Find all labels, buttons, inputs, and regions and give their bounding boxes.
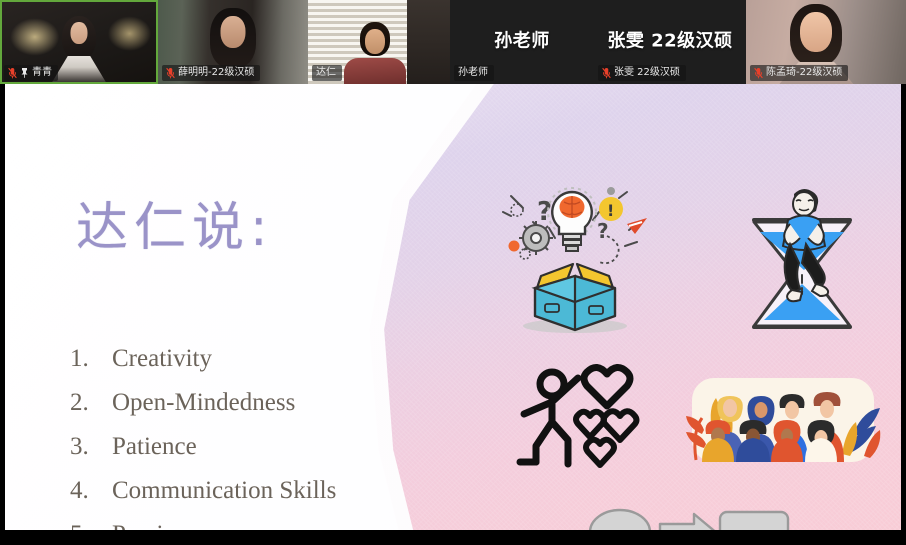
shared-screen-slide: 达仁说: 1. Creativity 2. Open-Mindedness 3.… [0,84,906,530]
participant-namebar: 达仁 [312,65,342,81]
participant-name-label: 孙老师 [458,66,488,79]
zoom-meeting-window: 青青 薛明明-22级汉硕 [0,0,906,545]
participant-name-label: 青青 [32,66,52,79]
lightbulb-brain-in-open-box-illustration: ? ? ! [489,176,654,336]
svg-text:?: ? [597,219,609,243]
participant-display-name: 孙老师 [450,26,594,52]
stick-figure-with-hearts-icon [512,360,647,475]
list-item: 3. Patience [70,434,336,459]
mic-muted-icon [166,67,175,79]
participant-name-label: 薛明明-22级汉硕 [178,66,254,79]
mic-muted-icon [754,67,763,79]
list-item-label: Creativity [112,346,212,371]
participant-namebar: 青青 [4,65,58,81]
participant-namebar: 孙老师 [454,65,494,81]
list-item-label: Passion [112,522,188,530]
mic-muted-icon [602,67,611,79]
participant-display-name: 张雯 22级汉硕 [594,26,746,52]
list-item-number: 5. [70,522,112,530]
participant-tile-zhangwen[interactable]: 张雯 22级汉硕 张雯 22级汉硕 [594,0,746,84]
mic-muted-icon [8,67,17,79]
participant-tile-chenmengqi[interactable]: 陈孟琦-22级汉硕 [746,0,906,84]
list-item: 1. Creativity [70,346,336,371]
participant-tile-sunlaoshi[interactable]: 孙老师 孙老师 [450,0,594,84]
svg-text:!: ! [607,201,614,220]
left-letterbox [0,84,5,545]
slide-title: 达仁说: [76,202,274,254]
slide-bullet-list: 1. Creativity 2. Open-Mindedness 3. Pati… [70,346,336,530]
list-item-label: Communication Skills [112,478,336,503]
list-item-number: 3. [70,434,112,459]
diverse-group-of-people-illustration [678,372,888,468]
list-item-number: 1. [70,346,112,371]
participant-tile-qingqing[interactable]: 青青 [0,0,158,84]
two-people-speech-bubbles-arrows-illustration [572,502,812,530]
participant-video-strip: 青青 薛明明-22级汉硕 [0,0,906,84]
participant-name-label: 达仁 [316,66,336,79]
list-item: 2. Open-Mindedness [70,390,336,415]
pin-icon [20,67,29,78]
person-sitting-on-hourglass-illustration [742,176,882,341]
list-item: 4. Communication Skills [70,478,336,503]
list-item-number: 2. [70,390,112,415]
list-item: 5. Passion [70,522,336,530]
right-letterbox [901,84,906,545]
participant-tile-daren[interactable]: 达仁 [308,0,450,84]
list-item-number: 4. [70,478,112,503]
list-item-label: Patience [112,434,197,459]
participant-namebar: 张雯 22级汉硕 [598,65,686,81]
participant-tile-xuemingming[interactable]: 薛明明-22级汉硕 [158,0,308,84]
participant-name-label: 张雯 22级汉硕 [614,66,680,79]
participant-namebar: 薛明明-22级汉硕 [162,65,260,81]
participant-namebar: 陈孟琦-22级汉硕 [750,65,848,81]
list-item-label: Open-Mindedness [112,390,295,415]
participant-name-label: 陈孟琦-22级汉硕 [766,66,842,79]
bottom-black-bar [0,530,906,545]
